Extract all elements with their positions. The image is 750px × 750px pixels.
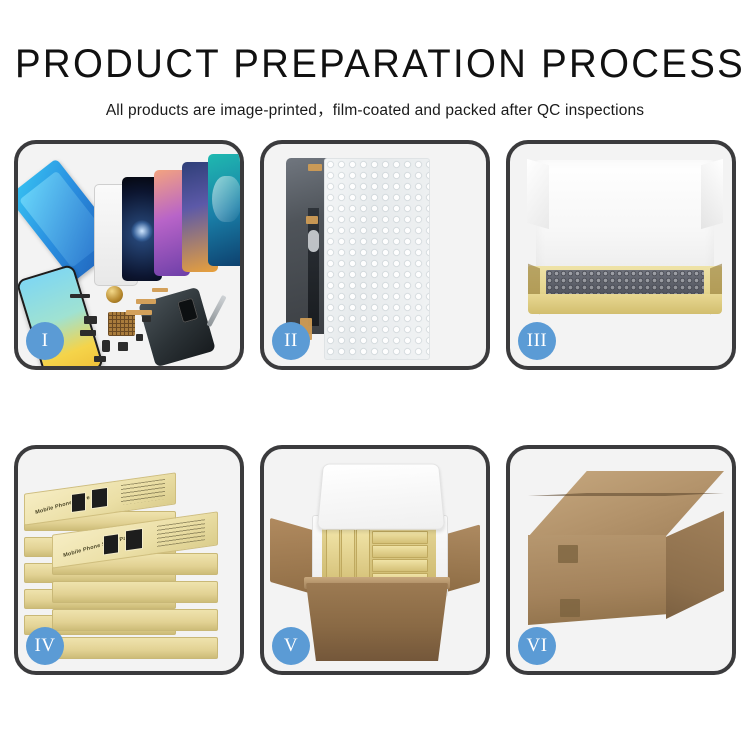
process-step-5: V (260, 445, 490, 675)
step-badge-5: V (272, 627, 310, 665)
box-side (52, 637, 218, 659)
chip-part-icon (142, 316, 151, 322)
screen-flex-cable-icon (308, 208, 319, 326)
step-badge-3: III (518, 322, 556, 360)
carton-front-face-icon (528, 535, 666, 625)
box-side (52, 609, 218, 631)
box-side (52, 581, 218, 603)
chip-part-icon (84, 316, 97, 324)
process-step-4: Mobile Phone Spare Parts Mobile Phone Sp… (14, 445, 244, 675)
screwdriver-icon (206, 295, 226, 327)
page-header: PRODUCT PREPARATION PROCESS All products… (0, 0, 750, 120)
kraft-tray-front-icon (528, 294, 722, 314)
flex-cable-icon (152, 288, 168, 292)
carton-tape-icon (558, 545, 578, 563)
coil-part-icon (106, 286, 123, 303)
process-step-3: III (506, 140, 736, 370)
camera-module-icon (308, 230, 319, 252)
carton-body-icon (306, 583, 448, 661)
chip-part-icon (136, 334, 143, 341)
flex-cable-icon (126, 310, 152, 315)
step-badge-4: IV (26, 627, 64, 665)
chip-part-icon (70, 294, 90, 298)
carton-side-face-icon (666, 511, 724, 619)
foam-lid-icon (317, 464, 446, 530)
page-subtitle: All products are image-printed，film-coat… (0, 98, 750, 120)
box-window-icon (103, 533, 119, 555)
logic-board-icon (108, 312, 135, 336)
box-window-icon (91, 487, 108, 509)
connector-tape-icon (306, 216, 318, 224)
chip-part-icon (102, 340, 110, 352)
process-step-grid: I II III (14, 140, 736, 685)
chip-part-icon (118, 342, 128, 351)
box-label-text: Mobile Phone Spare Parts (63, 533, 134, 559)
box-spec-lines (121, 479, 165, 505)
process-step-6: VI (506, 445, 736, 675)
chip-part-icon (94, 356, 106, 362)
carton-tape-icon (560, 599, 580, 617)
foam-sheet-icon (536, 160, 714, 278)
kraft-box-item (372, 531, 428, 544)
page-title: PRODUCT PREPARATION PROCESS (15, 44, 735, 84)
box-window-icon (125, 528, 143, 552)
step-badge-1: I (26, 322, 64, 360)
process-step-1: I (14, 140, 244, 370)
bubble-wrap-bag-icon (324, 158, 430, 360)
kraft-box-item (372, 545, 428, 558)
flex-cable-icon (136, 299, 156, 304)
teal-phone-icon (208, 154, 244, 266)
step-badge-2: II (272, 322, 310, 360)
box-window-icon (71, 492, 86, 513)
process-step-2: II (260, 140, 490, 370)
kraft-box-item (372, 559, 428, 572)
connector-tape-icon (308, 164, 322, 171)
chip-part-icon (80, 330, 96, 336)
box-spec-lines (157, 519, 205, 547)
step-badge-6: VI (518, 627, 556, 665)
product-preparation-process-page: PRODUCT PREPARATION PROCESS All products… (0, 0, 750, 750)
